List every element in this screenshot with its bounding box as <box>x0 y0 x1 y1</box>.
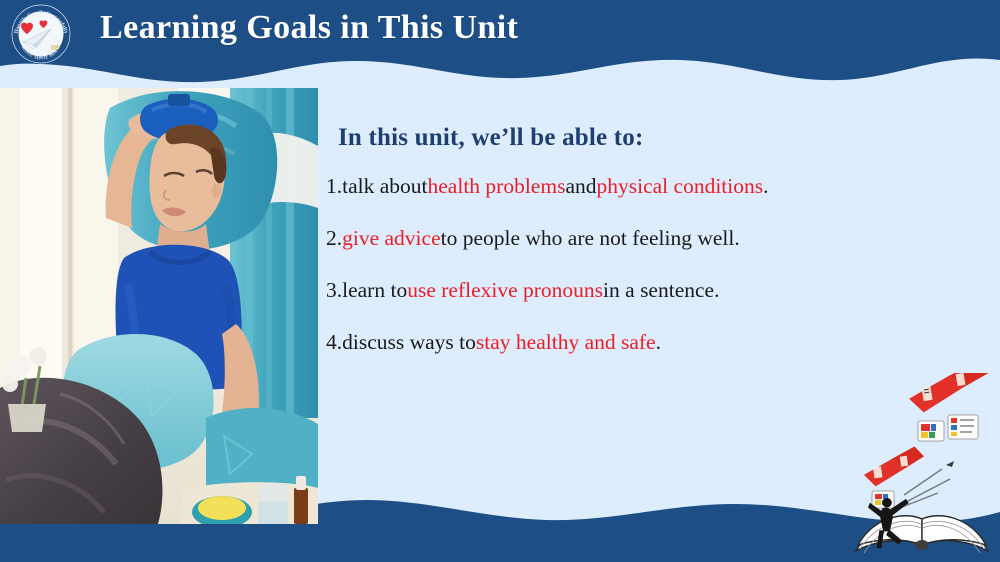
goals-content: In this unit, we’ll be able to: 1. talk … <box>326 124 966 369</box>
page-title: Learning Goals in This Unit <box>100 9 518 47</box>
goal-4-number: 4. <box>326 332 342 354</box>
school-crest-logo: Happily Crazily Successfully 我快乐 我疯狂 我成功… <box>9 2 73 66</box>
goal-1-highlight-2: physical conditions <box>597 176 764 198</box>
goal-item-3: 3. learn to use reflexive pronouns in a … <box>326 265 966 317</box>
goal-3-part-2: in a sentence. <box>603 280 719 302</box>
goal-2-number: 2. <box>326 228 342 250</box>
open-book-with-dancer-illustration <box>846 373 998 558</box>
goal-1-part-2: and <box>565 176 596 198</box>
goal-4-part-2: . <box>656 332 661 354</box>
goal-1-part-1: talk about <box>342 176 427 198</box>
goal-1-highlight-1: health problems <box>428 176 566 198</box>
slide-canvas: Happily Crazily Successfully 我快乐 我疯狂 我成功… <box>0 0 1000 562</box>
goal-2-highlight-1: give advice <box>342 228 441 250</box>
goal-1-part-3: . <box>763 176 768 198</box>
goal-4-part-1: discuss ways to <box>342 332 476 354</box>
goal-item-1: 1. talk about health problems and physic… <box>326 161 966 213</box>
goal-2-part-2: to people who are not feeling well. <box>441 228 740 250</box>
goal-3-number: 3. <box>326 280 342 302</box>
goal-item-2: 2. give advice to people who are not fee… <box>326 213 966 265</box>
goals-heading: In this unit, we’ll be able to: <box>338 124 966 152</box>
goal-4-highlight-1: stay healthy and safe <box>476 332 656 354</box>
svg-text:08: 08 <box>51 45 59 52</box>
goal-1-number: 1. <box>326 176 342 198</box>
goal-item-4: 4. discuss ways to stay healthy and safe… <box>326 317 966 369</box>
goal-3-highlight-1: use reflexive pronouns <box>407 280 603 302</box>
goal-3-part-1: learn to <box>342 280 407 302</box>
sick-boy-in-bed-photo <box>0 88 318 524</box>
